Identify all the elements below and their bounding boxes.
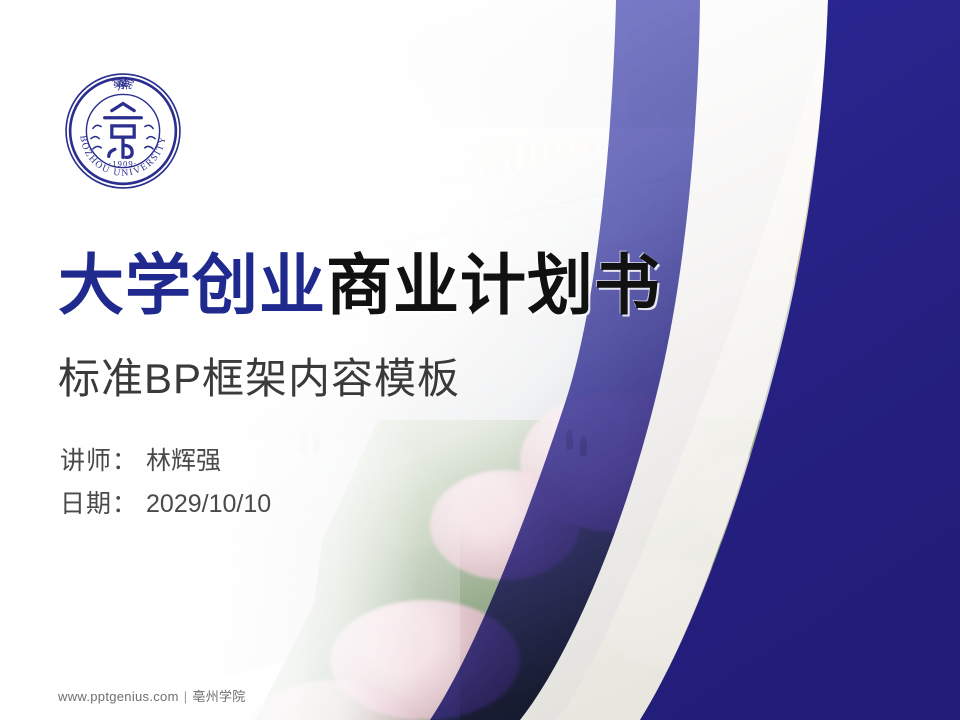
- presenter-line: 讲师：林辉强: [60, 440, 271, 483]
- slide-subtitle: 标准BP框架内容模板: [58, 345, 460, 406]
- slide-footer: www.pptgenius.com|亳州学院: [58, 686, 246, 705]
- title-slide: 亳 州 学 院 ·1909· BOZHOU UNIVERSITY 大学创业商业计…: [0, 0, 960, 720]
- date-label: 日期：: [60, 490, 138, 518]
- presenter-label: 讲师：: [60, 447, 138, 475]
- presenter-value: 林辉强: [146, 447, 221, 475]
- date-value: 2029/10/10: [146, 490, 271, 518]
- bozhou-university-seal-icon: 亳 州 学 院 ·1909· BOZHOU UNIVERSITY: [62, 70, 184, 192]
- university-logo: 亳 州 学 院 ·1909· BOZHOU UNIVERSITY: [62, 70, 184, 192]
- slide-title: 大学创业商业计划书: [58, 252, 661, 318]
- footer-separator: |: [184, 689, 188, 704]
- date-line: 日期：2029/10/10: [60, 483, 271, 526]
- footer-site[interactable]: www.pptgenius.com: [58, 689, 179, 704]
- slide-title-blue-part: 大学创业: [58, 248, 326, 322]
- presentation-meta: 讲师：林辉强 日期：2029/10/10: [60, 440, 271, 526]
- slide-title-black-part: 商业计划书: [326, 248, 661, 322]
- footer-institution: 亳州学院: [192, 689, 245, 704]
